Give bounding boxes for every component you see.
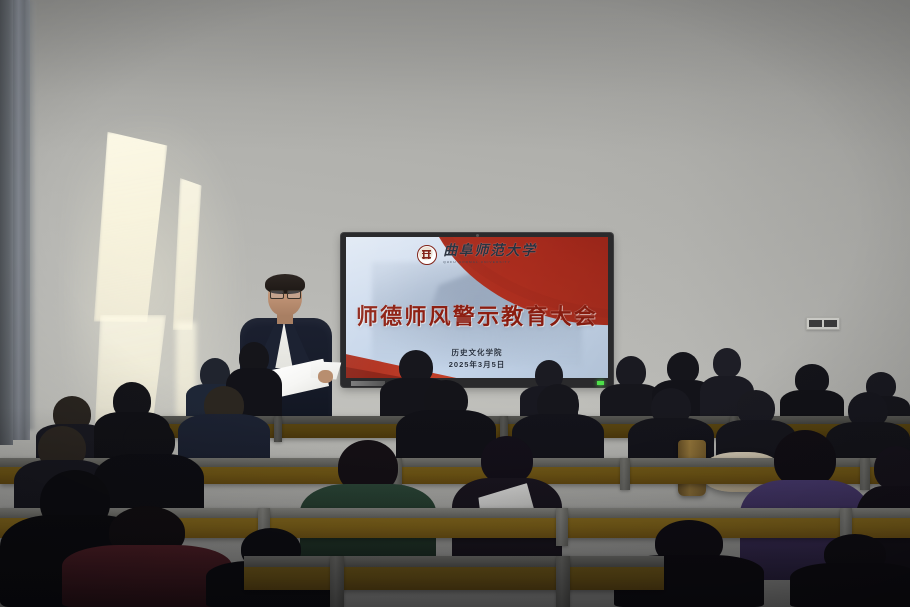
university-wordmark: 曲阜师范大学 QUFU NORMAL UNIVERSITY: [443, 245, 537, 264]
slide-title: 师德师风警示教育大会: [346, 299, 608, 331]
wall-switch-panel[interactable]: [806, 317, 840, 330]
desk-leg: [556, 508, 568, 546]
curtain-edge: [26, 0, 36, 430]
university-seal-icon: [417, 245, 437, 265]
lecture-hall-photo: 曲阜师范大学 QUFU NORMAL UNIVERSITY 师德师风警示教育大会…: [0, 0, 910, 607]
slide-university-logo: 曲阜师范大学 QUFU NORMAL UNIVERSITY: [346, 245, 608, 265]
head: [481, 436, 533, 484]
desk-leg: [330, 556, 344, 607]
switch-toggle-left[interactable]: [809, 320, 822, 327]
head: [874, 446, 910, 490]
speaker-hand-right: [318, 370, 333, 383]
university-name-en: QUFU NORMAL UNIVERSITY: [443, 261, 511, 264]
attendee-row2-e: [790, 534, 910, 607]
desk-leg: [556, 556, 570, 607]
curtain-fold-dark: [0, 0, 13, 445]
eyeglasses-icon: [270, 290, 301, 298]
switch-toggle-right[interactable]: [824, 320, 837, 327]
torso: [790, 563, 910, 607]
desk-leg: [620, 458, 630, 490]
desk-row-2: [244, 556, 664, 590]
desk-leg: [274, 416, 282, 442]
head: [713, 348, 741, 378]
university-name-cn: 曲阜师范大学: [443, 245, 537, 259]
desk-surface: [244, 556, 664, 567]
